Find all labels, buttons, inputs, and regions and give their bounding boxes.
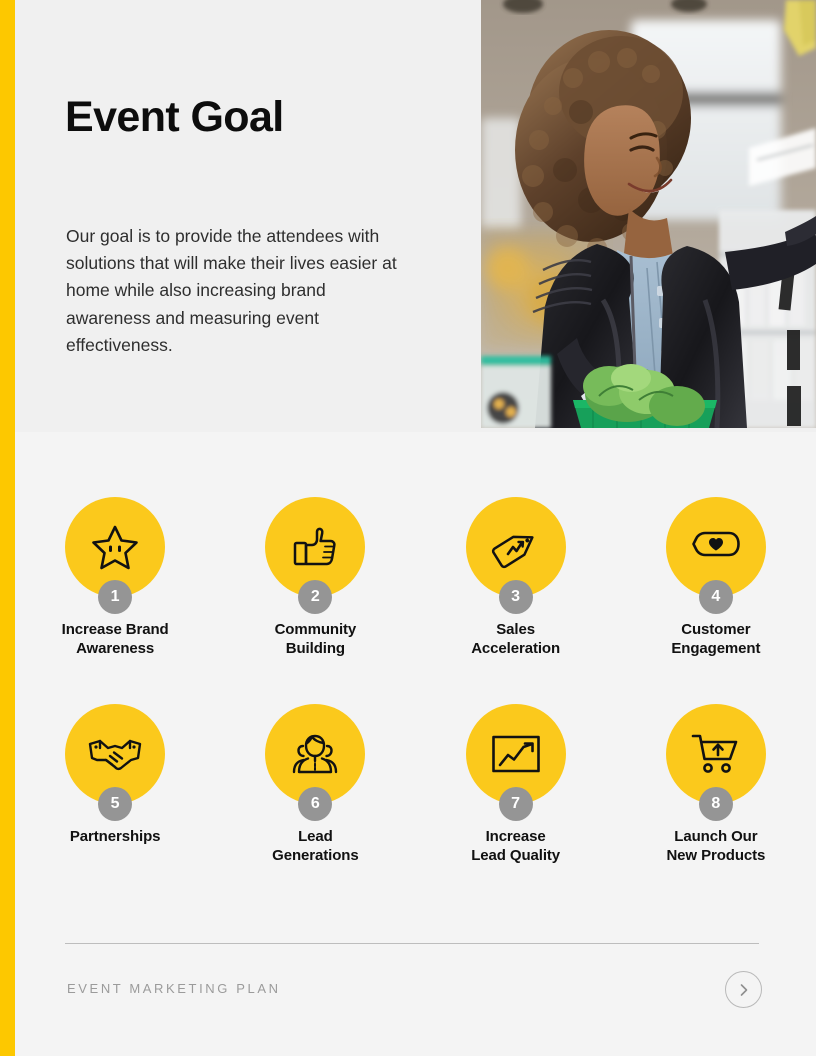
goal-label: CustomerEngagement: [671, 620, 760, 658]
goal-label: Increase BrandAwareness: [62, 620, 169, 658]
goal-circle: 1: [65, 497, 165, 597]
goal-circle: 3: [466, 497, 566, 597]
handshake-icon: [88, 736, 142, 772]
goals-grid: 1 Increase BrandAwareness 2 CommunityB: [15, 432, 816, 865]
goal-item-partnerships[interactable]: 5 Partnerships: [15, 704, 215, 865]
goal-item-customer-engagement[interactable]: 4 CustomerEngagement: [616, 497, 816, 658]
shopping-cart-up-icon: [691, 732, 741, 776]
goal-number-badge: 7: [499, 787, 533, 821]
price-tag-icon: [491, 523, 541, 571]
goal-circle: 5: [65, 704, 165, 804]
goal-item-lead-generations[interactable]: 6 LeadGenerations: [215, 704, 415, 865]
goal-number-badge: 3: [499, 580, 533, 614]
next-slide-button[interactable]: [725, 971, 762, 1008]
goal-number-badge: 8: [699, 787, 733, 821]
goal-circle: 4: [666, 497, 766, 597]
hero-photo: [481, 0, 816, 428]
goal-number-badge: 2: [298, 580, 332, 614]
goal-label: SalesAcceleration: [471, 620, 560, 658]
goal-item-community-building[interactable]: 2 CommunityBuilding: [215, 497, 415, 658]
chevron-right-icon: [737, 982, 751, 998]
footer-label: EVENT MARKETING PLAN: [67, 981, 281, 996]
speech-bubble-heart-icon: [691, 527, 741, 567]
goals-section: 1 Increase BrandAwareness 2 CommunityB: [0, 432, 816, 932]
thumbs-up-icon: [292, 524, 338, 570]
goal-label: Launch OurNew Products: [666, 827, 765, 865]
goal-item-launch-our-new-products[interactable]: 8 Launch OurNew Products: [616, 704, 816, 865]
left-accent-stripe: [0, 0, 15, 1056]
hero-section: Event Goal Our goal is to provide the at…: [0, 0, 816, 432]
star-icon: [90, 523, 140, 571]
goal-number-badge: 4: [699, 580, 733, 614]
hero-paragraph: Our goal is to provide the attendees wit…: [66, 223, 406, 359]
goal-label: CommunityBuilding: [275, 620, 357, 658]
footer-divider: [65, 943, 759, 944]
goal-number-badge: 1: [98, 580, 132, 614]
goal-number-badge: 6: [298, 787, 332, 821]
goal-circle: 2: [265, 497, 365, 597]
growth-chart-icon: [491, 734, 541, 774]
goal-label: IncreaseLead Quality: [471, 827, 560, 865]
page-title: Event Goal: [65, 95, 284, 140]
goal-circle: 6: [265, 704, 365, 804]
goal-item-sales-acceleration[interactable]: 3 SalesAcceleration: [416, 497, 616, 658]
goal-circle: 7: [466, 704, 566, 804]
goal-circle: 8: [666, 704, 766, 804]
goal-number-badge: 5: [98, 787, 132, 821]
goal-item-increase-lead-quality[interactable]: 7 IncreaseLead Quality: [416, 704, 616, 865]
people-group-icon: [291, 730, 339, 778]
goal-item-increase-brand-awareness[interactable]: 1 Increase BrandAwareness: [15, 497, 215, 658]
goal-label: LeadGenerations: [272, 827, 358, 865]
goal-label: Partnerships: [70, 827, 161, 846]
